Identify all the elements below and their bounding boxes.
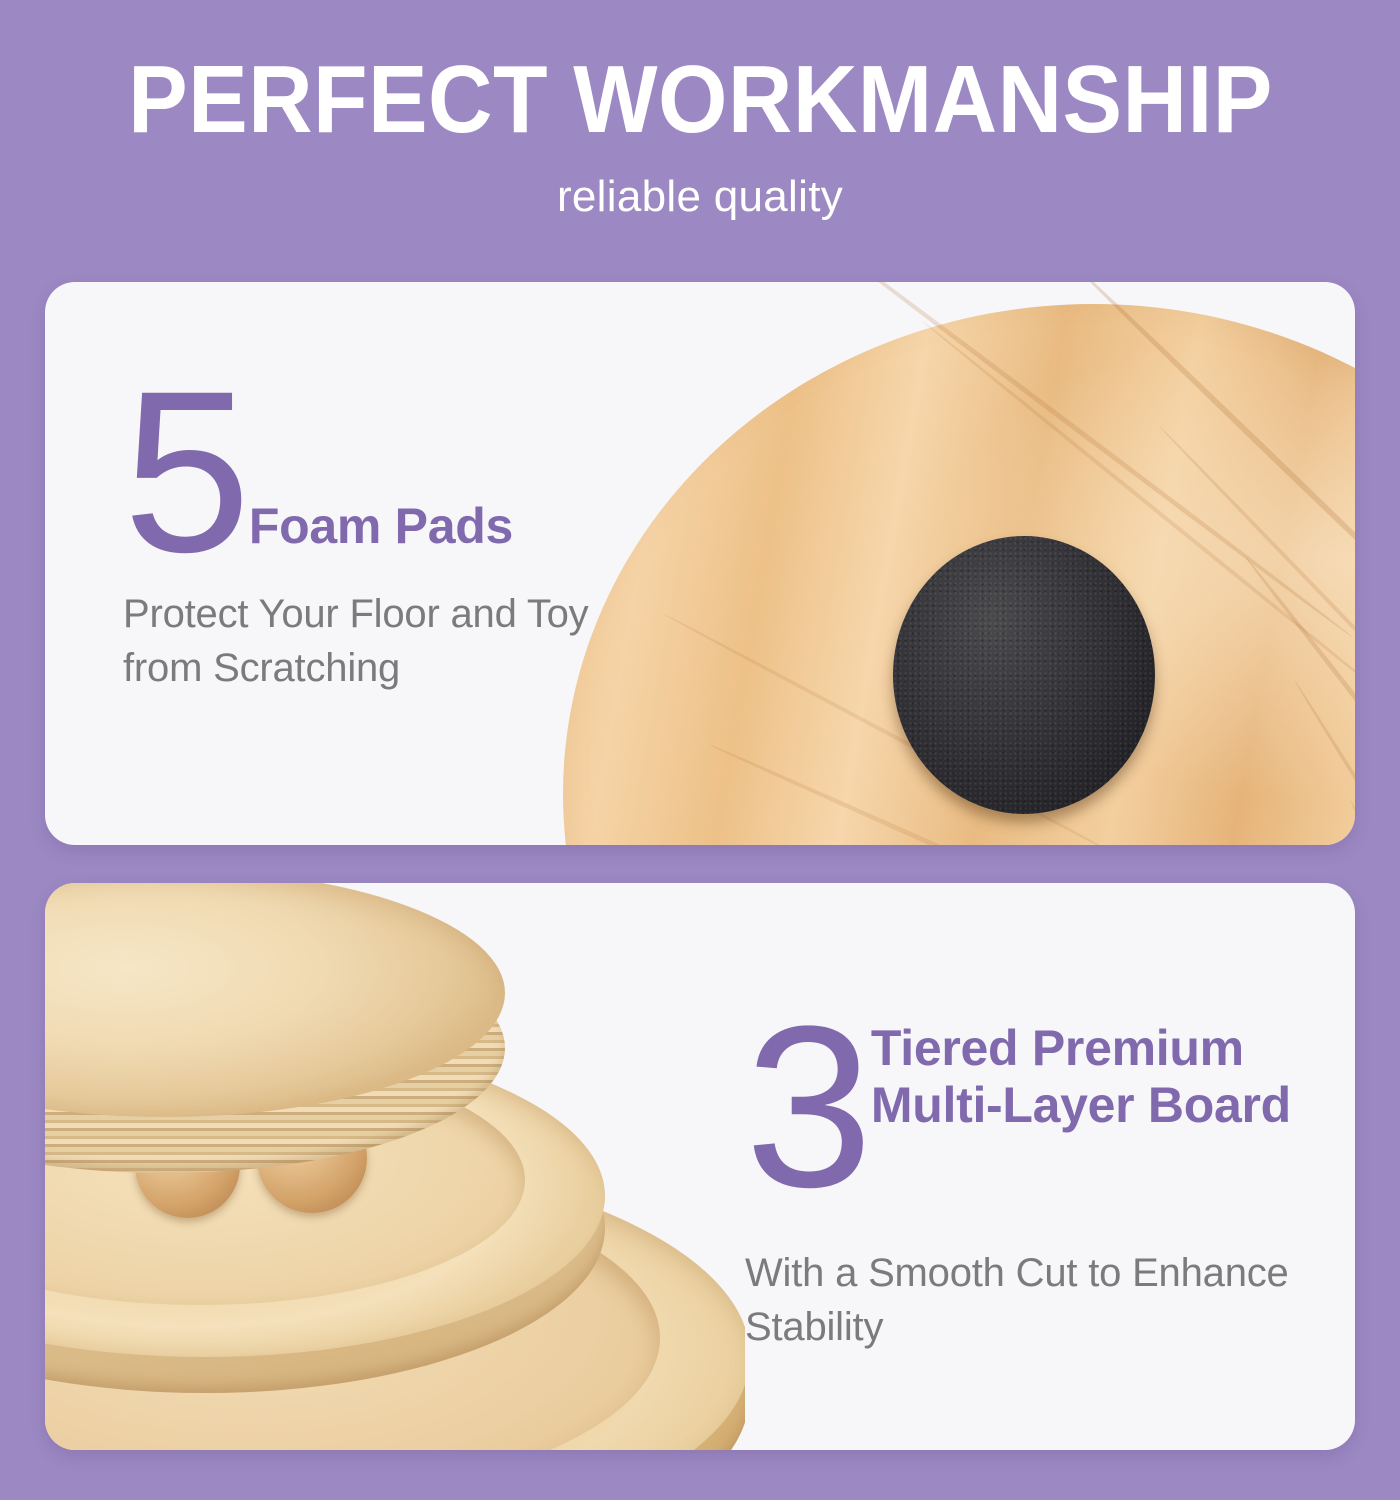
feature-label: Tiered Premium Multi-Layer Board	[871, 1008, 1325, 1134]
feature-card-tiered-board: 3 Tiered Premium Multi-Layer Board With …	[45, 883, 1355, 1450]
product-photo-foam-pad	[555, 282, 1355, 845]
feature-card-foam-pads: 5 Foam Pads Protect Your Floor and Toy f…	[45, 282, 1355, 845]
feature-headline: 5 Foam Pads	[123, 382, 663, 561]
feature-description: Protect Your Floor and Toy from Scratchi…	[123, 587, 663, 695]
page-header: PERFECT WORKMANSHIP reliable quality	[0, 0, 1400, 282]
feature-number: 5	[123, 382, 245, 561]
feature-number: 3	[745, 1008, 867, 1206]
product-photo-tiered-board	[45, 883, 745, 1450]
page-subtitle: reliable quality	[0, 172, 1400, 222]
page-title: PERFECT WORKMANSHIP	[128, 48, 1273, 152]
wooden-disc	[563, 304, 1355, 845]
feature-description: With a Smooth Cut to Enhance Stability	[745, 1246, 1325, 1354]
feature-headline: 3 Tiered Premium Multi-Layer Board	[745, 1008, 1325, 1206]
feature-label: Foam Pads	[249, 498, 513, 561]
feature-text-foam-pads: 5 Foam Pads Protect Your Floor and Toy f…	[123, 382, 663, 695]
paw-print-icon	[1385, 7, 1400, 78]
black-foam-pad	[893, 536, 1155, 814]
feature-text-tiered-board: 3 Tiered Premium Multi-Layer Board With …	[745, 1008, 1325, 1354]
title-row: PERFECT WORKMANSHIP	[0, 48, 1400, 152]
